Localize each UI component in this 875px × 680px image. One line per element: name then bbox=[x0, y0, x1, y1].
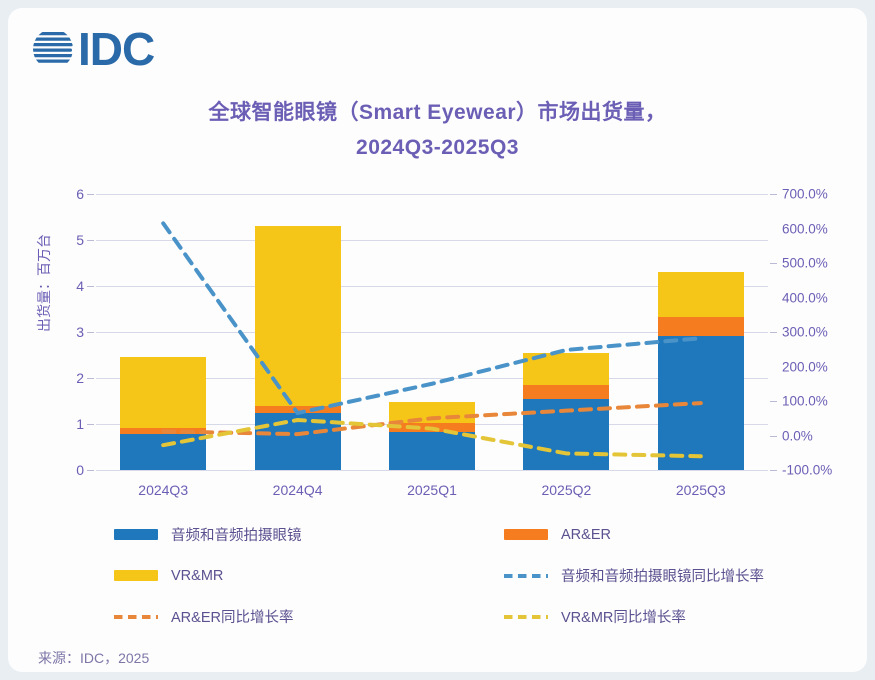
growth-line bbox=[163, 420, 701, 456]
y-tick-right: 200.0% bbox=[782, 359, 828, 374]
idc-logo-text: IDC bbox=[78, 26, 154, 72]
legend-ar-er-growth[interactable]: AR&ER同比增长率 bbox=[114, 606, 504, 627]
y-tick-mark-left bbox=[87, 378, 94, 379]
y-tick-mark-left bbox=[87, 286, 94, 287]
y-tick-mark-left bbox=[87, 470, 94, 471]
legend-ar-er[interactable]: AR&ER bbox=[504, 524, 824, 545]
y-tick-right: 600.0% bbox=[782, 221, 828, 236]
idc-logo: IDC bbox=[30, 26, 154, 72]
chart-title-line2: 2024Q3-2025Q3 bbox=[8, 136, 867, 160]
chart-legend: 音频和音频拍摄眼镜AR&ERVR&MR音频和音频拍摄眼镜同比增长率AR&ER同比… bbox=[114, 524, 824, 627]
y-axis-label: 出货量：百万台 bbox=[34, 234, 54, 332]
idc-globe-icon bbox=[30, 26, 76, 72]
legend-label: VR&MR bbox=[171, 568, 223, 584]
y-tick-mark-right bbox=[770, 332, 777, 333]
y-tick-mark-left bbox=[87, 194, 94, 195]
chart-card: IDC 全球智能眼镜（Smart Eyewear）市场出货量， 2024Q3-2… bbox=[8, 8, 867, 672]
x-tick-label: 2024Q3 bbox=[96, 482, 230, 498]
legend-label: VR&MR同比增长率 bbox=[561, 606, 686, 627]
legend-vr-mr[interactable]: VR&MR bbox=[114, 565, 504, 586]
source-note: 来源：IDC，2025 bbox=[38, 648, 149, 668]
legend-swatch-icon bbox=[114, 529, 158, 540]
y-tick-mark-right bbox=[770, 470, 777, 471]
y-tick-mark-right bbox=[770, 436, 777, 437]
legend-dash-icon bbox=[114, 615, 158, 619]
x-tick-label: 2025Q2 bbox=[499, 482, 633, 498]
legend-audio-growth[interactable]: 音频和音频拍摄眼镜同比增长率 bbox=[504, 565, 824, 586]
legend-label: AR&ER bbox=[561, 527, 611, 543]
legend-vr-mr-growth[interactable]: VR&MR同比增长率 bbox=[504, 606, 824, 627]
y-tick-right: 300.0% bbox=[782, 325, 828, 340]
x-tick-label: 2024Q4 bbox=[230, 482, 364, 498]
chart-title-line1: 全球智能眼镜（Smart Eyewear）市场出货量， bbox=[8, 96, 867, 126]
y-tick-left: 6 bbox=[76, 186, 84, 202]
legend-swatch-icon bbox=[114, 570, 158, 581]
plot-area: 6543210 700.0%600.0%500.0%400.0%300.0%20… bbox=[96, 194, 768, 470]
legend-label: AR&ER同比增长率 bbox=[171, 606, 293, 627]
legend-label: 音频和音频拍摄眼镜同比增长率 bbox=[561, 565, 764, 586]
y-tick-right: 500.0% bbox=[782, 256, 828, 271]
y-tick-mark-left bbox=[87, 240, 94, 241]
y-tick-right: 400.0% bbox=[782, 290, 828, 305]
legend-swatch-icon bbox=[504, 529, 548, 540]
y-tick-left: 3 bbox=[76, 324, 84, 340]
legend-dash-icon bbox=[504, 615, 548, 619]
y-tick-left: 0 bbox=[76, 462, 84, 478]
y-tick-mark-right bbox=[770, 263, 777, 264]
x-tick-label: 2025Q1 bbox=[365, 482, 499, 498]
y-tick-right: -100.0% bbox=[782, 463, 832, 478]
gridline bbox=[96, 470, 768, 471]
y-tick-left: 1 bbox=[76, 416, 84, 432]
y-tick-left: 5 bbox=[76, 232, 84, 248]
y-tick-left: 4 bbox=[76, 278, 84, 294]
legend-label: 音频和音频拍摄眼镜 bbox=[171, 524, 302, 545]
chart-title: 全球智能眼镜（Smart Eyewear）市场出货量， 2024Q3-2025Q… bbox=[8, 96, 867, 160]
y-tick-right: 0.0% bbox=[782, 428, 813, 443]
y-tick-mark-right bbox=[770, 401, 777, 402]
growth-lines-layer bbox=[96, 194, 768, 470]
x-tick-label: 2025Q3 bbox=[634, 482, 768, 498]
y-tick-right: 100.0% bbox=[782, 394, 828, 409]
y-tick-right: 700.0% bbox=[782, 187, 828, 202]
growth-line bbox=[163, 223, 701, 413]
y-tick-mark-left bbox=[87, 424, 94, 425]
y-tick-mark-left bbox=[87, 332, 94, 333]
y-tick-left: 2 bbox=[76, 370, 84, 386]
legend-dash-icon bbox=[504, 574, 548, 578]
y-tick-mark-right bbox=[770, 194, 777, 195]
legend-audio-glasses[interactable]: 音频和音频拍摄眼镜 bbox=[114, 524, 504, 545]
